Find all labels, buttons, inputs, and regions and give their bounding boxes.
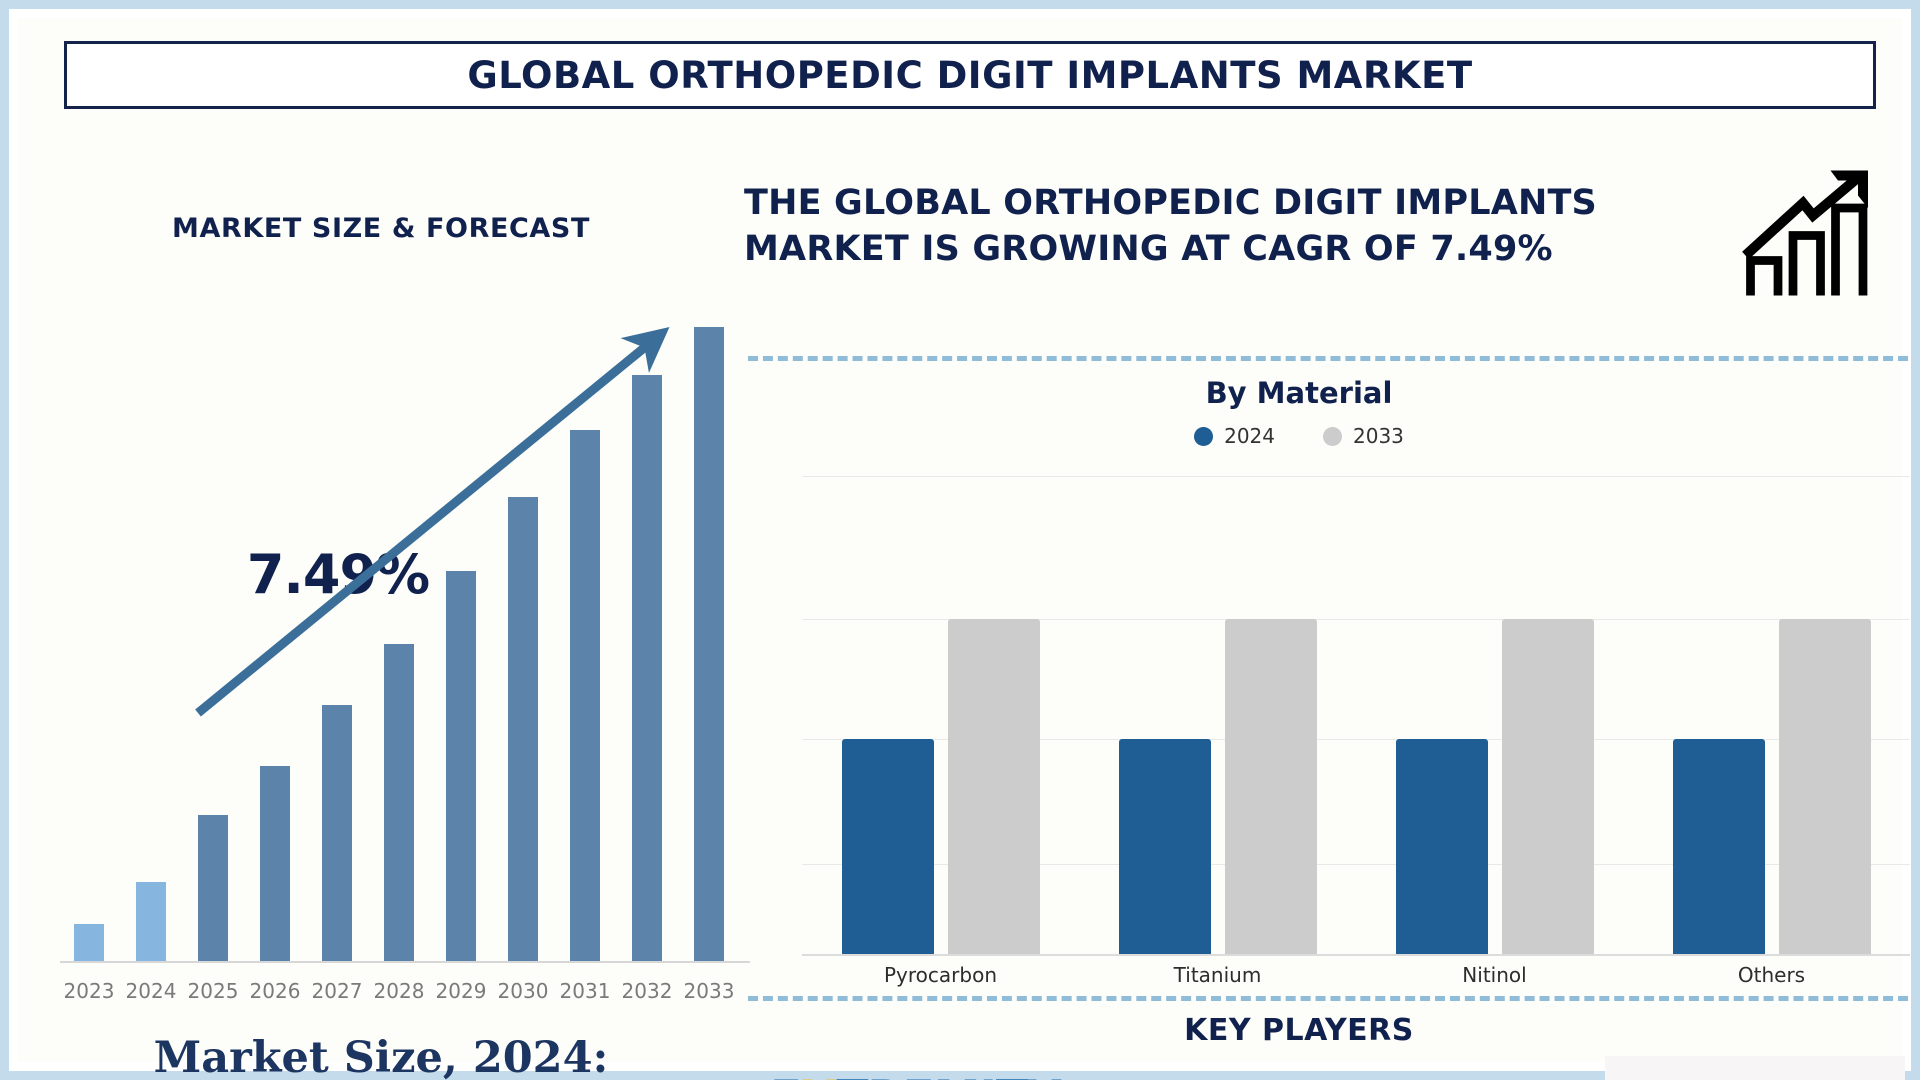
extremity-x: X bbox=[801, 1071, 836, 1080]
bar-slot bbox=[368, 351, 430, 961]
category-label-nitinol: Nitinol bbox=[1356, 963, 1633, 987]
material-group-others bbox=[1633, 476, 1910, 954]
material-group-nitinol bbox=[1356, 476, 1633, 954]
key-players-title: KEY PLAYERS bbox=[744, 1013, 1854, 1048]
category-label-others: Others bbox=[1633, 963, 1910, 987]
year-label: 2027 bbox=[306, 979, 368, 1003]
logo-extremity-medical: EXTREMITY® MEDICAL bbox=[723, 1075, 1123, 1080]
legend-label: 2033 bbox=[1353, 424, 1404, 448]
year-label: 2032 bbox=[616, 979, 678, 1003]
year-label: 2033 bbox=[678, 979, 740, 1003]
bar-pyrocarbon-2024 bbox=[842, 739, 934, 954]
right-panel: THE GLOBAL ORTHOPEDIC DIGIT IMPLANTS MAR… bbox=[744, 138, 1920, 1078]
left-panel: MARKET SIZE & FORECAST 7.49% bbox=[18, 138, 744, 1078]
extremity-rest: TREMITY bbox=[836, 1071, 1060, 1080]
bar-slot bbox=[58, 351, 120, 961]
legend-label: 2024 bbox=[1224, 424, 1275, 448]
market-size-2024: Market Size, 2024: USD 277.40 Million bbox=[18, 1033, 744, 1080]
bar-slot bbox=[306, 351, 368, 961]
extremity-e: E bbox=[770, 1071, 801, 1080]
forecast-bar-2026 bbox=[260, 766, 290, 961]
market-size-forecast-heading: MARKET SIZE & FORECAST bbox=[18, 213, 744, 244]
forecast-bar-2032 bbox=[632, 375, 662, 961]
divider-bottom bbox=[748, 996, 1908, 1001]
bar-nitinol-2033 bbox=[1502, 619, 1594, 954]
logo-enovis: enovisTM bbox=[1605, 1056, 1905, 1080]
year-label: 2026 bbox=[244, 979, 306, 1003]
divider-top bbox=[748, 356, 1908, 361]
by-material-chart: Pyrocarbon Titanium Nitinol Others bbox=[802, 476, 1910, 954]
forecast-axis-line bbox=[60, 961, 750, 963]
year-label: 2023 bbox=[58, 979, 120, 1003]
segment-title: By Material bbox=[744, 376, 1854, 410]
bar-nitinol-2024 bbox=[1396, 739, 1488, 954]
forecast-bar-2027 bbox=[322, 705, 352, 961]
bar-slot bbox=[120, 351, 182, 961]
forecast-year-labels: 2023 2024 2025 2026 2027 2028 2029 2030 … bbox=[58, 979, 758, 1003]
bar-pyrocarbon-2033 bbox=[948, 619, 1040, 954]
material-axis-line bbox=[802, 954, 1910, 956]
legend-dot-icon bbox=[1323, 427, 1342, 446]
forecast-bar-2031 bbox=[570, 430, 600, 961]
bar-slot bbox=[616, 351, 678, 961]
year-label: 2028 bbox=[368, 979, 430, 1003]
bar-others-2024 bbox=[1673, 739, 1765, 954]
category-label-titanium: Titanium bbox=[1079, 963, 1356, 987]
year-label: 2024 bbox=[120, 979, 182, 1003]
page-title: GLOBAL ORTHOPEDIC DIGIT IMPLANTS MARKET bbox=[467, 54, 1472, 97]
material-group-titanium bbox=[1079, 476, 1356, 954]
material-bar-groups bbox=[802, 476, 1910, 954]
forecast-bar-2023 bbox=[74, 924, 104, 961]
key-players-logos: EXTREMITY® MEDICAL Smith+Nephew enovisTM bbox=[694, 1056, 1920, 1080]
year-label: 2025 bbox=[182, 979, 244, 1003]
forecast-bar-2033 bbox=[694, 327, 724, 961]
bar-slot bbox=[182, 351, 244, 961]
bar-slot bbox=[554, 351, 616, 961]
category-label-pyrocarbon: Pyrocarbon bbox=[802, 963, 1079, 987]
growth-chart-icon bbox=[1738, 158, 1888, 308]
forecast-bar-2025 bbox=[198, 815, 228, 961]
year-label: 2031 bbox=[554, 979, 616, 1003]
material-legend: 2024 2033 bbox=[744, 424, 1854, 448]
infographic-poster: GLOBAL ORTHOPEDIC DIGIT IMPLANTS MARKET … bbox=[0, 0, 1920, 1080]
forecast-bar-2028 bbox=[384, 644, 414, 961]
material-group-pyrocarbon bbox=[802, 476, 1079, 954]
bar-slot bbox=[430, 351, 492, 961]
bar-slot bbox=[244, 351, 306, 961]
legend-item-2033[interactable]: 2033 bbox=[1323, 424, 1404, 448]
forecast-bar-2024 bbox=[136, 882, 166, 961]
forecast-bars bbox=[58, 351, 758, 961]
material-category-labels: Pyrocarbon Titanium Nitinol Others bbox=[802, 963, 1910, 987]
year-label: 2030 bbox=[492, 979, 554, 1003]
legend-item-2024[interactable]: 2024 bbox=[1194, 424, 1275, 448]
bar-slot bbox=[492, 351, 554, 961]
forecast-bar-2029 bbox=[446, 571, 476, 961]
bar-slot bbox=[678, 351, 740, 961]
poster-inner: GLOBAL ORTHOPEDIC DIGIT IMPLANTS MARKET … bbox=[18, 18, 1902, 1062]
cagr-headline: THE GLOBAL ORTHOPEDIC DIGIT IMPLANTS MAR… bbox=[744, 180, 1624, 272]
market-size-line-1: Market Size, 2024: bbox=[18, 1033, 744, 1080]
bar-others-2033 bbox=[1779, 619, 1871, 954]
forecast-bar-2030 bbox=[508, 497, 538, 961]
legend-dot-icon bbox=[1194, 427, 1213, 446]
market-size-forecast-chart: 7.49% bbox=[38, 313, 738, 988]
bar-titanium-2024 bbox=[1119, 739, 1211, 954]
extremity-wordmark: EXTREMITY® bbox=[770, 1075, 1076, 1080]
year-label: 2029 bbox=[430, 979, 492, 1003]
bar-titanium-2033 bbox=[1225, 619, 1317, 954]
title-box: GLOBAL ORTHOPEDIC DIGIT IMPLANTS MARKET bbox=[64, 41, 1876, 109]
